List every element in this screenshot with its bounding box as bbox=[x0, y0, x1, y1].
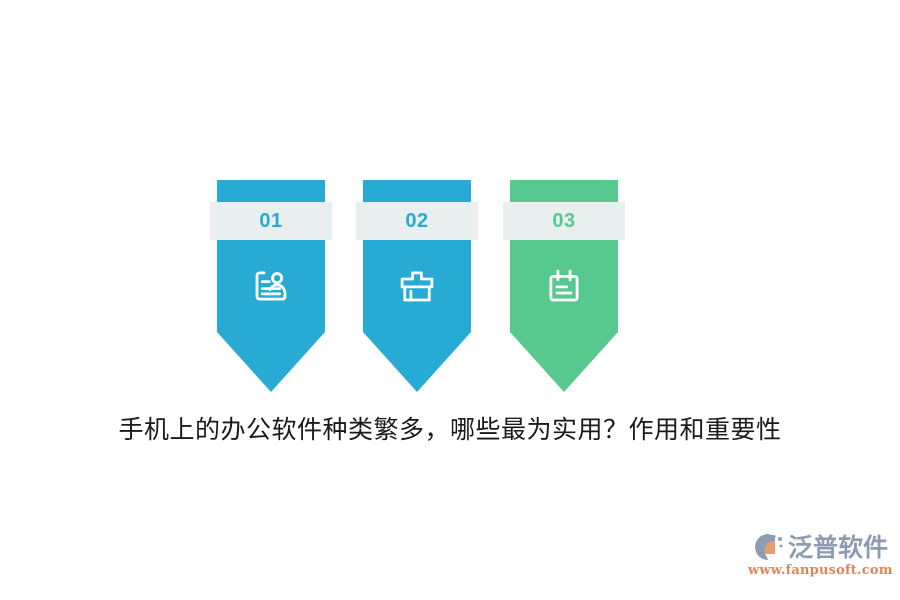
ribbon-number-label-03: 03 bbox=[552, 211, 575, 231]
watermark-brand-row: 泛普软件 bbox=[748, 530, 888, 564]
ribbon-number-plate-01: 01 bbox=[210, 202, 332, 240]
ribbon-body-03 bbox=[510, 240, 618, 332]
ribbon-item-03[interactable]: 03 bbox=[510, 180, 618, 392]
ribbon-item-01[interactable]: 01 bbox=[217, 180, 325, 392]
watermark-url: www.fanpusoft.com bbox=[748, 564, 888, 577]
ribbon-cap-03 bbox=[510, 180, 618, 202]
ribbon-point-02 bbox=[363, 332, 471, 392]
store-building-icon bbox=[396, 265, 438, 307]
ribbon-point-03 bbox=[510, 332, 618, 392]
fanpu-swoosh-logo-icon bbox=[753, 532, 785, 562]
ribbon-number-label-01: 01 bbox=[259, 211, 282, 231]
ribbon-cap-01 bbox=[217, 180, 325, 202]
calendar-note-icon bbox=[543, 265, 585, 307]
ribbon-number-plate-02: 02 bbox=[356, 202, 478, 240]
ribbon-point-01 bbox=[217, 332, 325, 392]
ribbon-cap-02 bbox=[363, 180, 471, 202]
ribbon-item-02[interactable]: 02 bbox=[363, 180, 471, 392]
ribbon-body-02 bbox=[363, 240, 471, 332]
ribbon-body-01 bbox=[217, 240, 325, 332]
page-title: 手机上的办公软件种类繁多，哪些最为实用？作用和重要性 bbox=[0, 410, 900, 446]
ribbon-number-plate-03: 03 bbox=[503, 202, 625, 240]
watermark-logo: 泛普软件 www.fanpusoft.com bbox=[748, 530, 888, 586]
watermark-brand-name: 泛普软件 bbox=[788, 535, 888, 560]
ribbon-number-label-02: 02 bbox=[405, 211, 428, 231]
infographic-ribbon-group: 01 02 bbox=[217, 180, 727, 395]
contact-card-icon bbox=[250, 265, 292, 307]
screenshot-canvas: 01 02 bbox=[0, 0, 900, 600]
